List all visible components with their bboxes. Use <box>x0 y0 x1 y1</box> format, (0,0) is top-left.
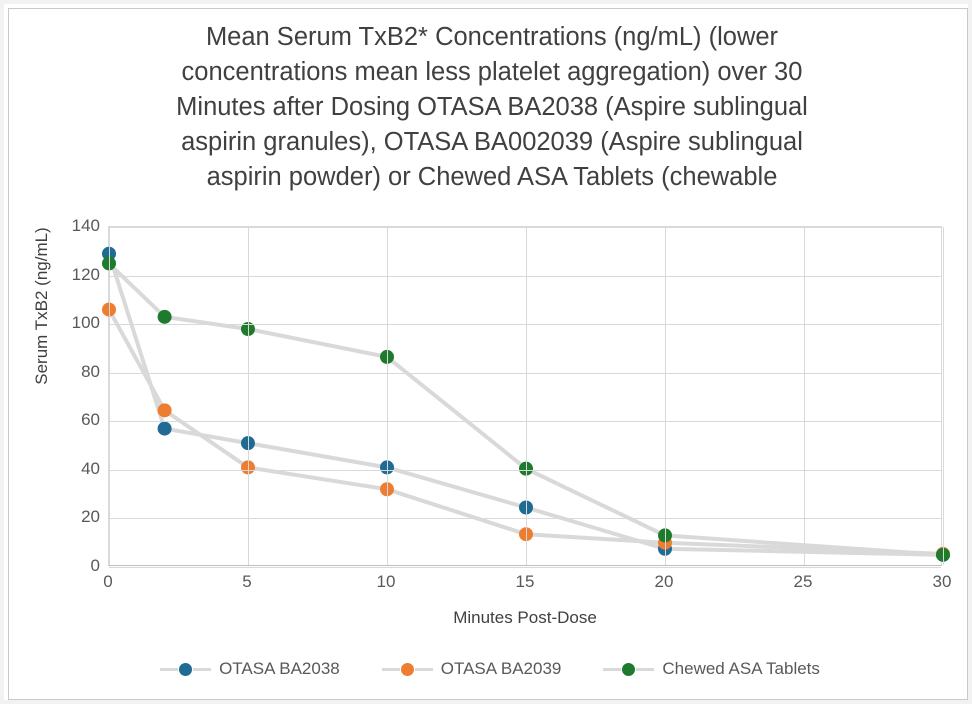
gridline-horizontal <box>109 470 941 471</box>
gridline-vertical <box>109 227 110 565</box>
gridline-vertical <box>804 227 805 565</box>
legend-line-icon <box>382 668 400 671</box>
chart-title: Mean Serum TxB2* Concentrations (ng/mL) … <box>116 20 868 195</box>
x-tick-label: 10 <box>346 572 426 592</box>
x-tick-label: 15 <box>485 572 565 592</box>
x-axis-tick-labels: 051015202530 <box>108 572 942 596</box>
x-tick-label: 25 <box>763 572 843 592</box>
gridline-horizontal <box>109 227 941 228</box>
gridline-horizontal <box>109 276 941 277</box>
gridline-vertical <box>665 227 666 565</box>
legend-item[interactable]: Chewed ASA Tablets <box>603 659 820 679</box>
legend-marker-icon <box>622 663 635 676</box>
gridline-horizontal <box>109 421 941 422</box>
data-point-marker[interactable] <box>158 422 172 436</box>
legend-label: Chewed ASA Tablets <box>662 659 820 679</box>
gridline-vertical <box>387 227 388 565</box>
legend-label: OTASA BA2038 <box>219 659 340 679</box>
y-tick-label: 40 <box>30 459 100 479</box>
x-tick-label: 20 <box>624 572 704 592</box>
gridline-vertical <box>526 227 527 565</box>
legend-line-icon <box>603 668 621 671</box>
legend-item[interactable]: OTASA BA2038 <box>160 659 340 679</box>
data-point-marker[interactable] <box>158 403 172 417</box>
legend-marker-icon <box>401 663 414 676</box>
legend-line-icon <box>193 668 211 671</box>
legend-line-icon <box>415 668 433 671</box>
gridline-vertical <box>943 227 944 565</box>
gridline-horizontal <box>109 324 941 325</box>
gridline-horizontal <box>109 373 941 374</box>
plot-area <box>108 226 942 566</box>
y-axis-title: Serum TxB2 (ng/mL) <box>32 206 52 406</box>
legend-line-icon <box>160 668 178 671</box>
y-tick-label: 60 <box>30 410 100 430</box>
chart-container: Mean Serum TxB2* Concentrations (ng/mL) … <box>0 0 972 704</box>
x-axis-title: Minutes Post-Dose <box>108 608 942 628</box>
x-tick-label: 0 <box>68 572 148 592</box>
gridline-horizontal <box>109 567 941 568</box>
legend-label: OTASA BA2039 <box>441 659 562 679</box>
gridline-horizontal <box>109 518 941 519</box>
chart-legend: OTASA BA2038OTASA BA2039Chewed ASA Table… <box>4 659 972 679</box>
gridline-vertical <box>248 227 249 565</box>
x-tick-label: 30 <box>902 572 972 592</box>
legend-item[interactable]: OTASA BA2039 <box>382 659 562 679</box>
x-tick-label: 5 <box>207 572 287 592</box>
legend-line-icon <box>636 668 654 671</box>
y-tick-label: 20 <box>30 507 100 527</box>
data-point-marker[interactable] <box>158 310 172 324</box>
legend-marker-icon <box>179 663 192 676</box>
